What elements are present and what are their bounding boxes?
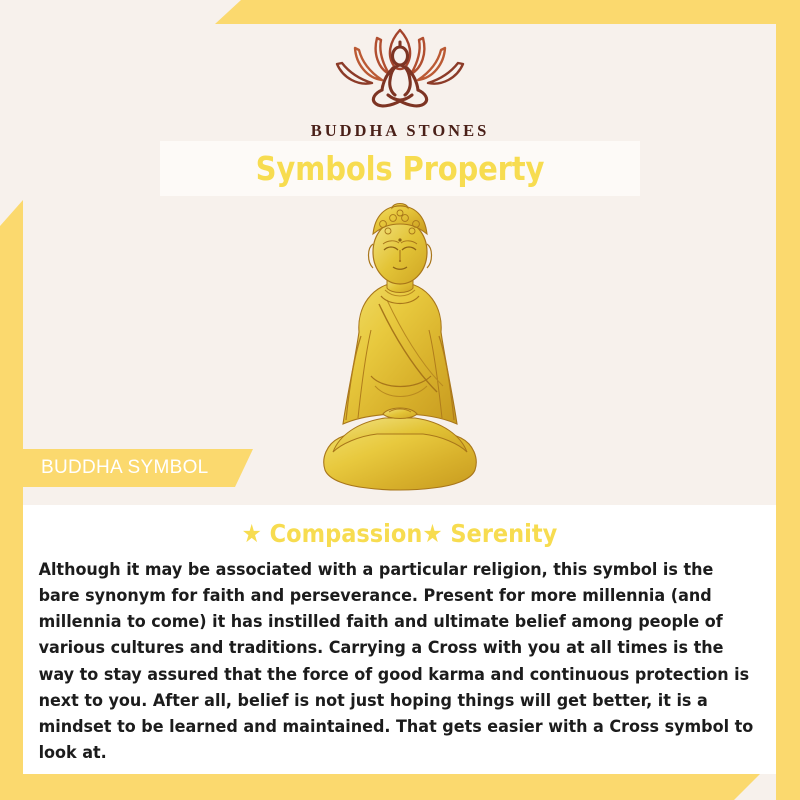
section-label-banner: BUDDHA SYMBOL [23,449,253,487]
brand-name: BUDDHA STONES [311,121,490,141]
section-label-text: BUDDHA SYMBOL [41,457,209,479]
content-card: ★ Compassion★ Serenity Although it may b… [23,505,776,774]
decorative-bottom-band [0,774,760,800]
seated-golden-buddha-statue-icon [313,200,487,500]
body-paragraph: Although it may be associated with a par… [33,557,762,766]
page-title: Symbols Property [256,149,545,188]
poster-root: BUDDHA STONES Symbols Property [0,0,800,800]
brand-header: BUDDHA STONES [0,22,800,141]
decorative-top-band [215,0,800,24]
lotus-meditation-icon [325,22,475,114]
content-subtitle: ★ Compassion★ Serenity [70,519,730,548]
title-banner: Symbols Property [160,141,640,196]
